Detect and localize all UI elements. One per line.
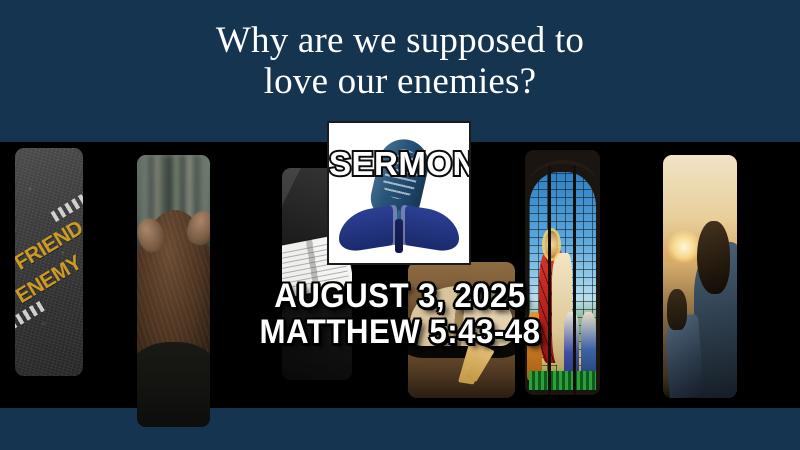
sermon-slide: Why are we supposed to love our enemies?…: [0, 0, 800, 450]
sermon-logo-text: SERMON: [329, 145, 469, 183]
stained-glass-scene: [525, 150, 600, 395]
sunset-scene: [663, 155, 737, 398]
sermon-scripture-reference: MATTHEW 5:43-48: [32, 314, 768, 350]
window-arch: [527, 160, 599, 189]
sermon-logo: SERMON: [327, 121, 471, 265]
title-line-2: love our enemies?: [0, 61, 800, 102]
photo-stained-glass-jesus-window: [525, 150, 600, 395]
glass-grass-border: [529, 371, 597, 391]
title-line-1: Why are we supposed to: [0, 20, 800, 61]
open-book-icon-right-page: [401, 204, 459, 253]
shoulder-shape: [137, 342, 210, 427]
sermon-details: AUGUST 3, 2025 MATTHEW 5:43-48: [0, 278, 800, 350]
page-title: Why are we supposed to love our enemies?: [0, 20, 800, 102]
open-book-icon-left-page: [339, 204, 397, 253]
sermon-date: AUGUST 3, 2025: [32, 278, 768, 314]
open-book-icon-spine: [395, 219, 403, 253]
photo-praying-woman-sunset: [663, 155, 737, 398]
